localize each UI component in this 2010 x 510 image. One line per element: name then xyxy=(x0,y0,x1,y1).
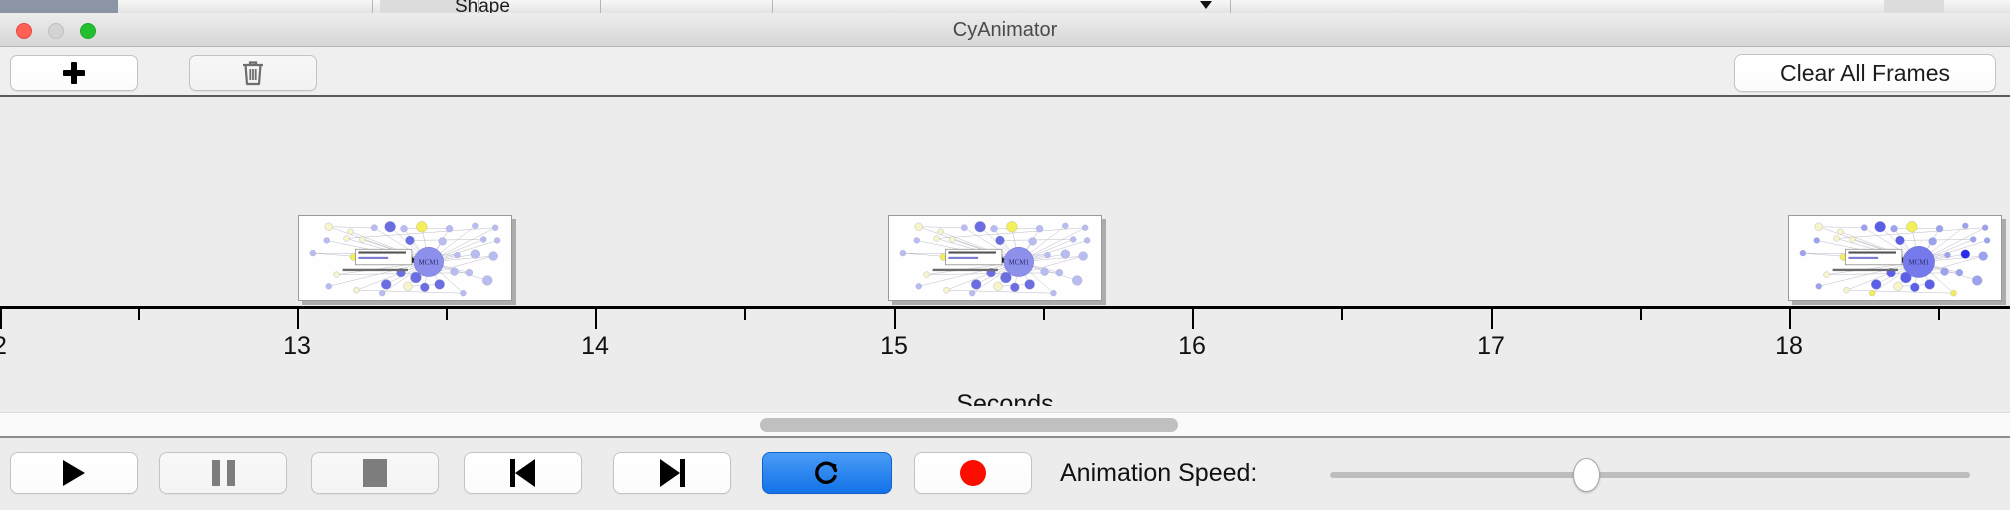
axis-tick-label: 2 xyxy=(0,332,7,361)
axis-tick-label: 14 xyxy=(581,332,609,361)
axis-tick-label: 16 xyxy=(1178,332,1206,361)
axis-line xyxy=(0,306,2010,309)
slider-track xyxy=(1330,472,1970,478)
record-icon xyxy=(960,460,986,486)
axis-tick-minor xyxy=(138,309,140,320)
bg-divider xyxy=(600,0,601,13)
timeline-frame-thumbnail[interactable]: MCM1 xyxy=(888,215,1102,301)
axis-title-seconds: Seconds xyxy=(0,390,2010,406)
network-preview: MCM1 xyxy=(889,216,1101,300)
bg-chunk xyxy=(0,0,118,13)
record-button[interactable] xyxy=(914,452,1032,494)
toolbar: Clear All Frames xyxy=(0,47,2010,97)
axis-tick-major xyxy=(894,309,896,329)
loop-button[interactable] xyxy=(762,452,892,494)
stop-icon xyxy=(363,459,387,487)
svg-text:MCM1: MCM1 xyxy=(419,259,440,266)
bg-divider xyxy=(372,0,373,13)
clear-all-frames-label: Clear All Frames xyxy=(1780,60,1950,87)
playback-control-bar: Animation Speed: xyxy=(0,436,2010,510)
axis-tick-minor xyxy=(1341,309,1343,320)
play-button[interactable] xyxy=(10,452,138,494)
timeline-frame-thumbnail[interactable]: MCM1 xyxy=(1788,215,2002,301)
timeline-frame-thumbnail[interactable]: MCM1 xyxy=(298,215,512,301)
axis-tick-label: 13 xyxy=(283,332,311,361)
axis-tick-major xyxy=(297,309,299,329)
scrollbar-thumb[interactable] xyxy=(760,418,1178,432)
trash-icon xyxy=(241,60,265,86)
bg-column-header-shape: Shape xyxy=(455,0,510,13)
animation-speed-slider[interactable] xyxy=(1330,472,1970,478)
animation-speed-label: Animation Speed: xyxy=(1060,452,1257,494)
cyanimator-window: Shape CyAnimator Clear All Frames MCM1MC… xyxy=(0,0,2010,510)
sort-caret-icon xyxy=(1200,1,1212,9)
background-window-strip: Shape xyxy=(0,0,2010,13)
horizontal-scrollbar[interactable] xyxy=(0,412,2010,436)
stop-button[interactable] xyxy=(311,452,439,494)
axis-tick-major xyxy=(1192,309,1194,329)
svg-text:MCM1: MCM1 xyxy=(1909,259,1930,266)
bg-divider xyxy=(1230,0,1231,13)
play-icon xyxy=(63,460,85,486)
bg-divider xyxy=(772,0,773,13)
timeline-panel: MCM1MCM1MCM1 2131415161718 Seconds xyxy=(0,99,2010,406)
frame-track[interactable]: MCM1MCM1MCM1 xyxy=(0,99,2010,306)
skip-forward-icon xyxy=(659,459,685,487)
axis-tick-minor xyxy=(1640,309,1642,320)
skip-back-icon xyxy=(510,459,536,487)
loop-icon xyxy=(812,458,842,488)
axis-tick-major xyxy=(1491,309,1493,329)
axis-tick-label: 15 xyxy=(880,332,908,361)
pause-icon xyxy=(212,460,235,486)
skip-to-end-button[interactable] xyxy=(613,452,731,494)
axis-tick-label: 17 xyxy=(1477,332,1505,361)
add-frame-button[interactable] xyxy=(10,55,138,91)
title-bar: CyAnimator xyxy=(0,13,2010,47)
axis-tick-minor xyxy=(446,309,448,320)
axis-tick-minor xyxy=(1043,309,1045,320)
plus-icon xyxy=(63,62,85,84)
axis-tick-major xyxy=(595,309,597,329)
time-axis: 2131415161718 Seconds xyxy=(0,306,2010,406)
network-preview: MCM1 xyxy=(299,216,511,300)
axis-tick-major xyxy=(1789,309,1791,329)
clear-all-frames-button[interactable]: Clear All Frames xyxy=(1734,54,1996,92)
pause-button[interactable] xyxy=(159,452,287,494)
delete-frame-button[interactable] xyxy=(189,55,317,91)
skip-to-start-button[interactable] xyxy=(464,452,582,494)
svg-text:MCM1: MCM1 xyxy=(1009,259,1030,266)
axis-tick-label: 18 xyxy=(1775,332,1803,361)
axis-tick-minor xyxy=(1938,309,1940,320)
window-title: CyAnimator xyxy=(0,13,2010,47)
network-preview: MCM1 xyxy=(1789,216,2001,300)
axis-tick-major xyxy=(0,309,2,329)
slider-thumb[interactable] xyxy=(1573,458,1600,492)
axis-tick-minor xyxy=(744,309,746,320)
bg-chunk xyxy=(1884,0,1944,13)
